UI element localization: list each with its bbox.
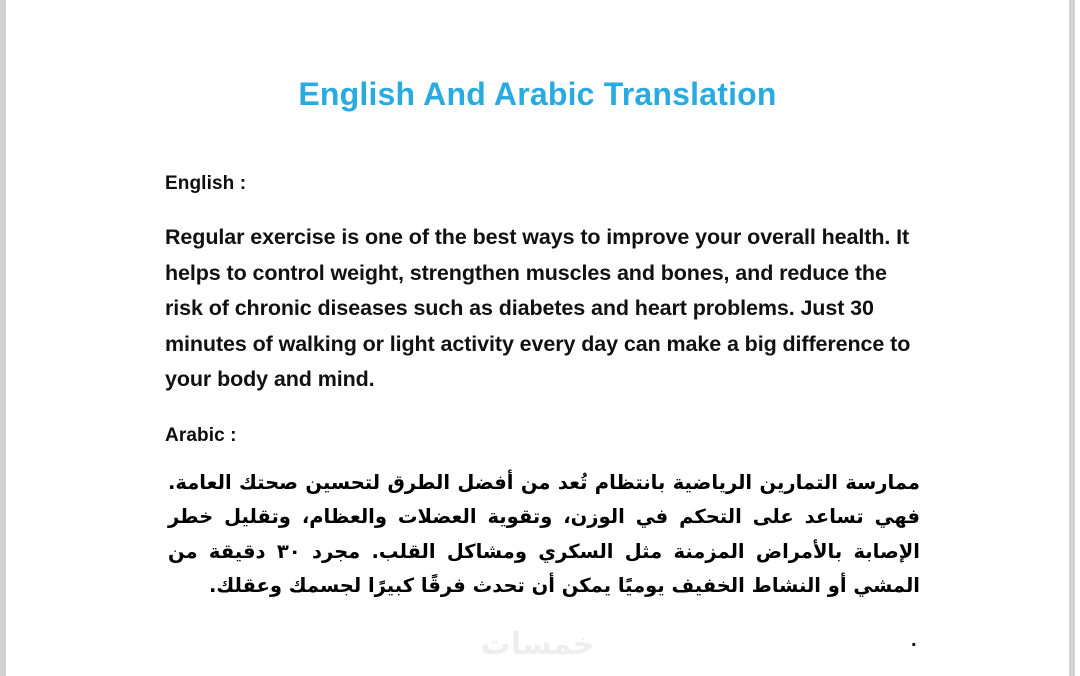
khamsat-watermark: خمسات xyxy=(6,626,1069,664)
english-section-label: English : xyxy=(165,170,917,198)
page-edge-right xyxy=(1069,0,1075,676)
arabic-section-label: Arabic : xyxy=(165,422,917,450)
arabic-text-block: ممارسة التمارين الرياضية بانتظام تُعد من… xyxy=(168,466,920,604)
arabic-paragraph: ممارسة التمارين الرياضية بانتظام تُعد من… xyxy=(168,466,920,604)
english-paragraph: Regular exercise is one of the best ways… xyxy=(165,220,917,398)
document-page: English And Arabic Translation English :… xyxy=(6,0,1069,676)
document-body: English : Regular exercise is one of the… xyxy=(165,170,917,604)
page-title: English And Arabic Translation xyxy=(6,73,1069,115)
